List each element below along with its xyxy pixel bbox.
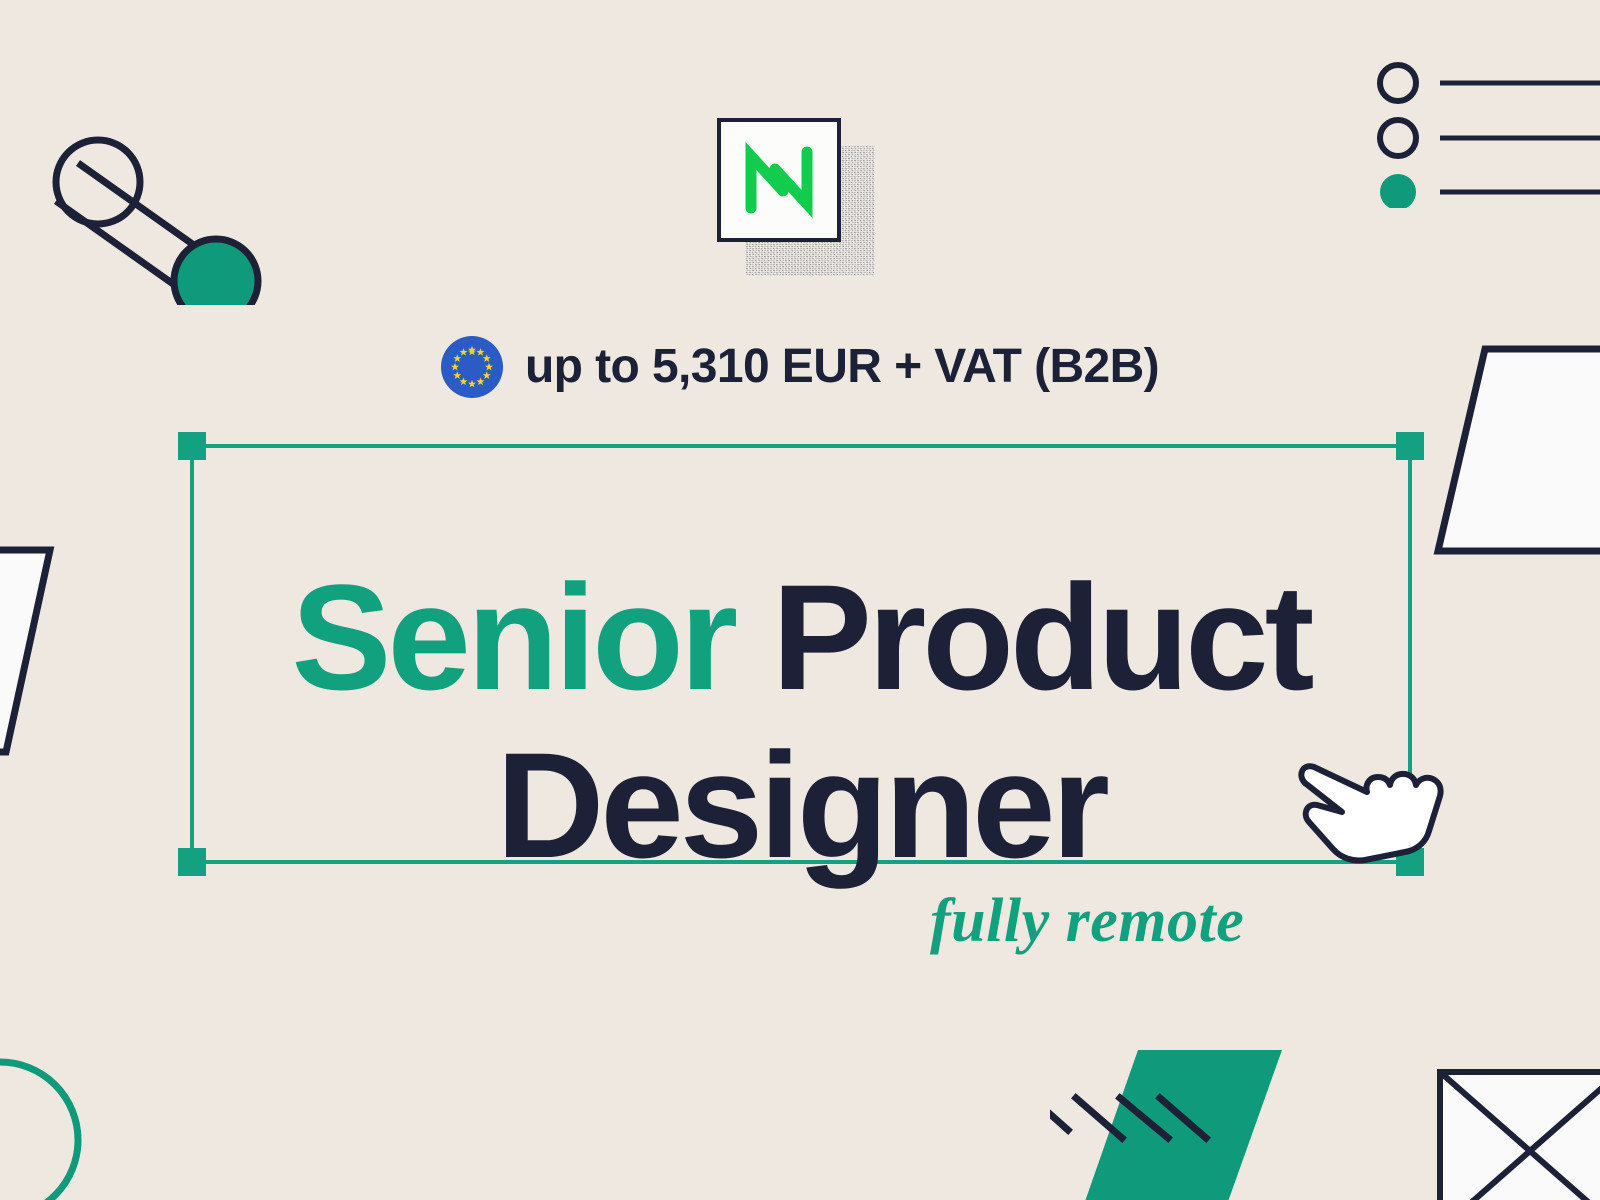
salary-row: up to 5,310 EUR + VAT (B2B)	[0, 336, 1600, 398]
arc-shape	[0, 1020, 120, 1200]
cylinder-shape	[40, 115, 280, 305]
salary-text: up to 5,310 EUR + VAT (B2B)	[525, 343, 1159, 391]
logo	[717, 118, 877, 278]
headline-accent-word: Senior	[291, 553, 734, 721]
arc-icon	[0, 1020, 120, 1200]
page-title: Senior Product Designer	[190, 553, 1412, 889]
parallelogram-bottom-shape	[1050, 1020, 1350, 1200]
image-placeholder-shape	[1410, 1030, 1600, 1200]
eu-flag-icon	[441, 336, 503, 398]
parallelogram-left-icon	[0, 540, 100, 800]
checklist-icon	[1370, 58, 1600, 208]
nexton-n-icon	[721, 122, 837, 238]
image-placeholder-icon	[1410, 1030, 1600, 1200]
cylinder-icon	[40, 115, 280, 305]
parallelogram-hatch-icon	[1050, 1020, 1350, 1200]
resize-handle-top-right[interactable]	[1396, 432, 1424, 460]
trapezoid-left-shape	[0, 540, 100, 800]
checklist-shape	[1370, 58, 1600, 208]
cursor-svg	[1293, 736, 1453, 866]
logo-card	[717, 118, 841, 242]
work-mode-label: fully remote	[930, 890, 1244, 952]
pointing-hand-cursor-icon	[1293, 736, 1453, 866]
resize-handle-top-left[interactable]	[178, 432, 206, 460]
poster-canvas: up to 5,310 EUR + VAT (B2B) Senior Produ…	[0, 0, 1600, 1200]
